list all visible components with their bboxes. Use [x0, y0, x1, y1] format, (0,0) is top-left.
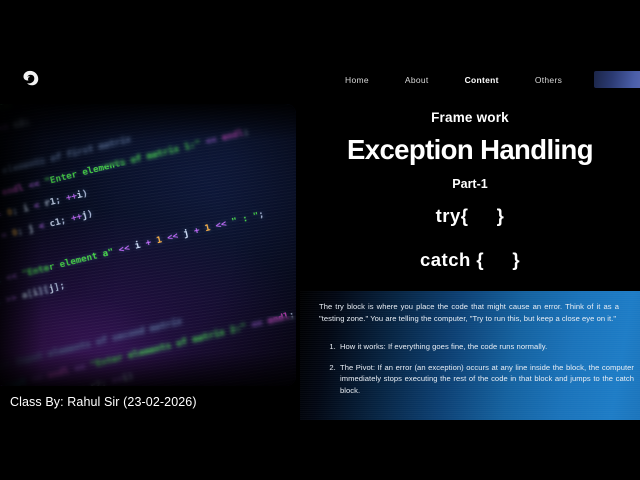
nav-item-home[interactable]: Home	[345, 75, 369, 85]
keyword-catch: catch { }	[300, 249, 640, 271]
nav-cta-button[interactable]	[594, 71, 640, 88]
slide-stage: cout << "Enter rows and columns for seco…	[0, 0, 640, 480]
keyword-try: try{ }	[300, 205, 640, 227]
slide-subtitle: Part-1	[300, 177, 640, 191]
class-caption: Class By: Rahul Sir (23-02-2026)	[10, 395, 197, 409]
page-title: Exception Handling	[300, 134, 640, 166]
nav-links: Home About Content Others	[345, 58, 562, 102]
spiral-logo-icon[interactable]	[17, 66, 43, 92]
nav-item-others[interactable]: Others	[535, 75, 562, 85]
photo-vignette	[0, 104, 296, 386]
slide-headings: Frame work Exception Handling Part-1 try…	[300, 104, 640, 424]
top-navbar: Home About Content Others	[0, 58, 640, 102]
nav-item-content[interactable]: Content	[465, 75, 499, 85]
nav-item-about[interactable]: About	[405, 75, 429, 85]
code-screenshot-photo: cout << "Enter rows and columns for seco…	[0, 104, 296, 386]
slide-kicker: Frame work	[300, 110, 640, 125]
